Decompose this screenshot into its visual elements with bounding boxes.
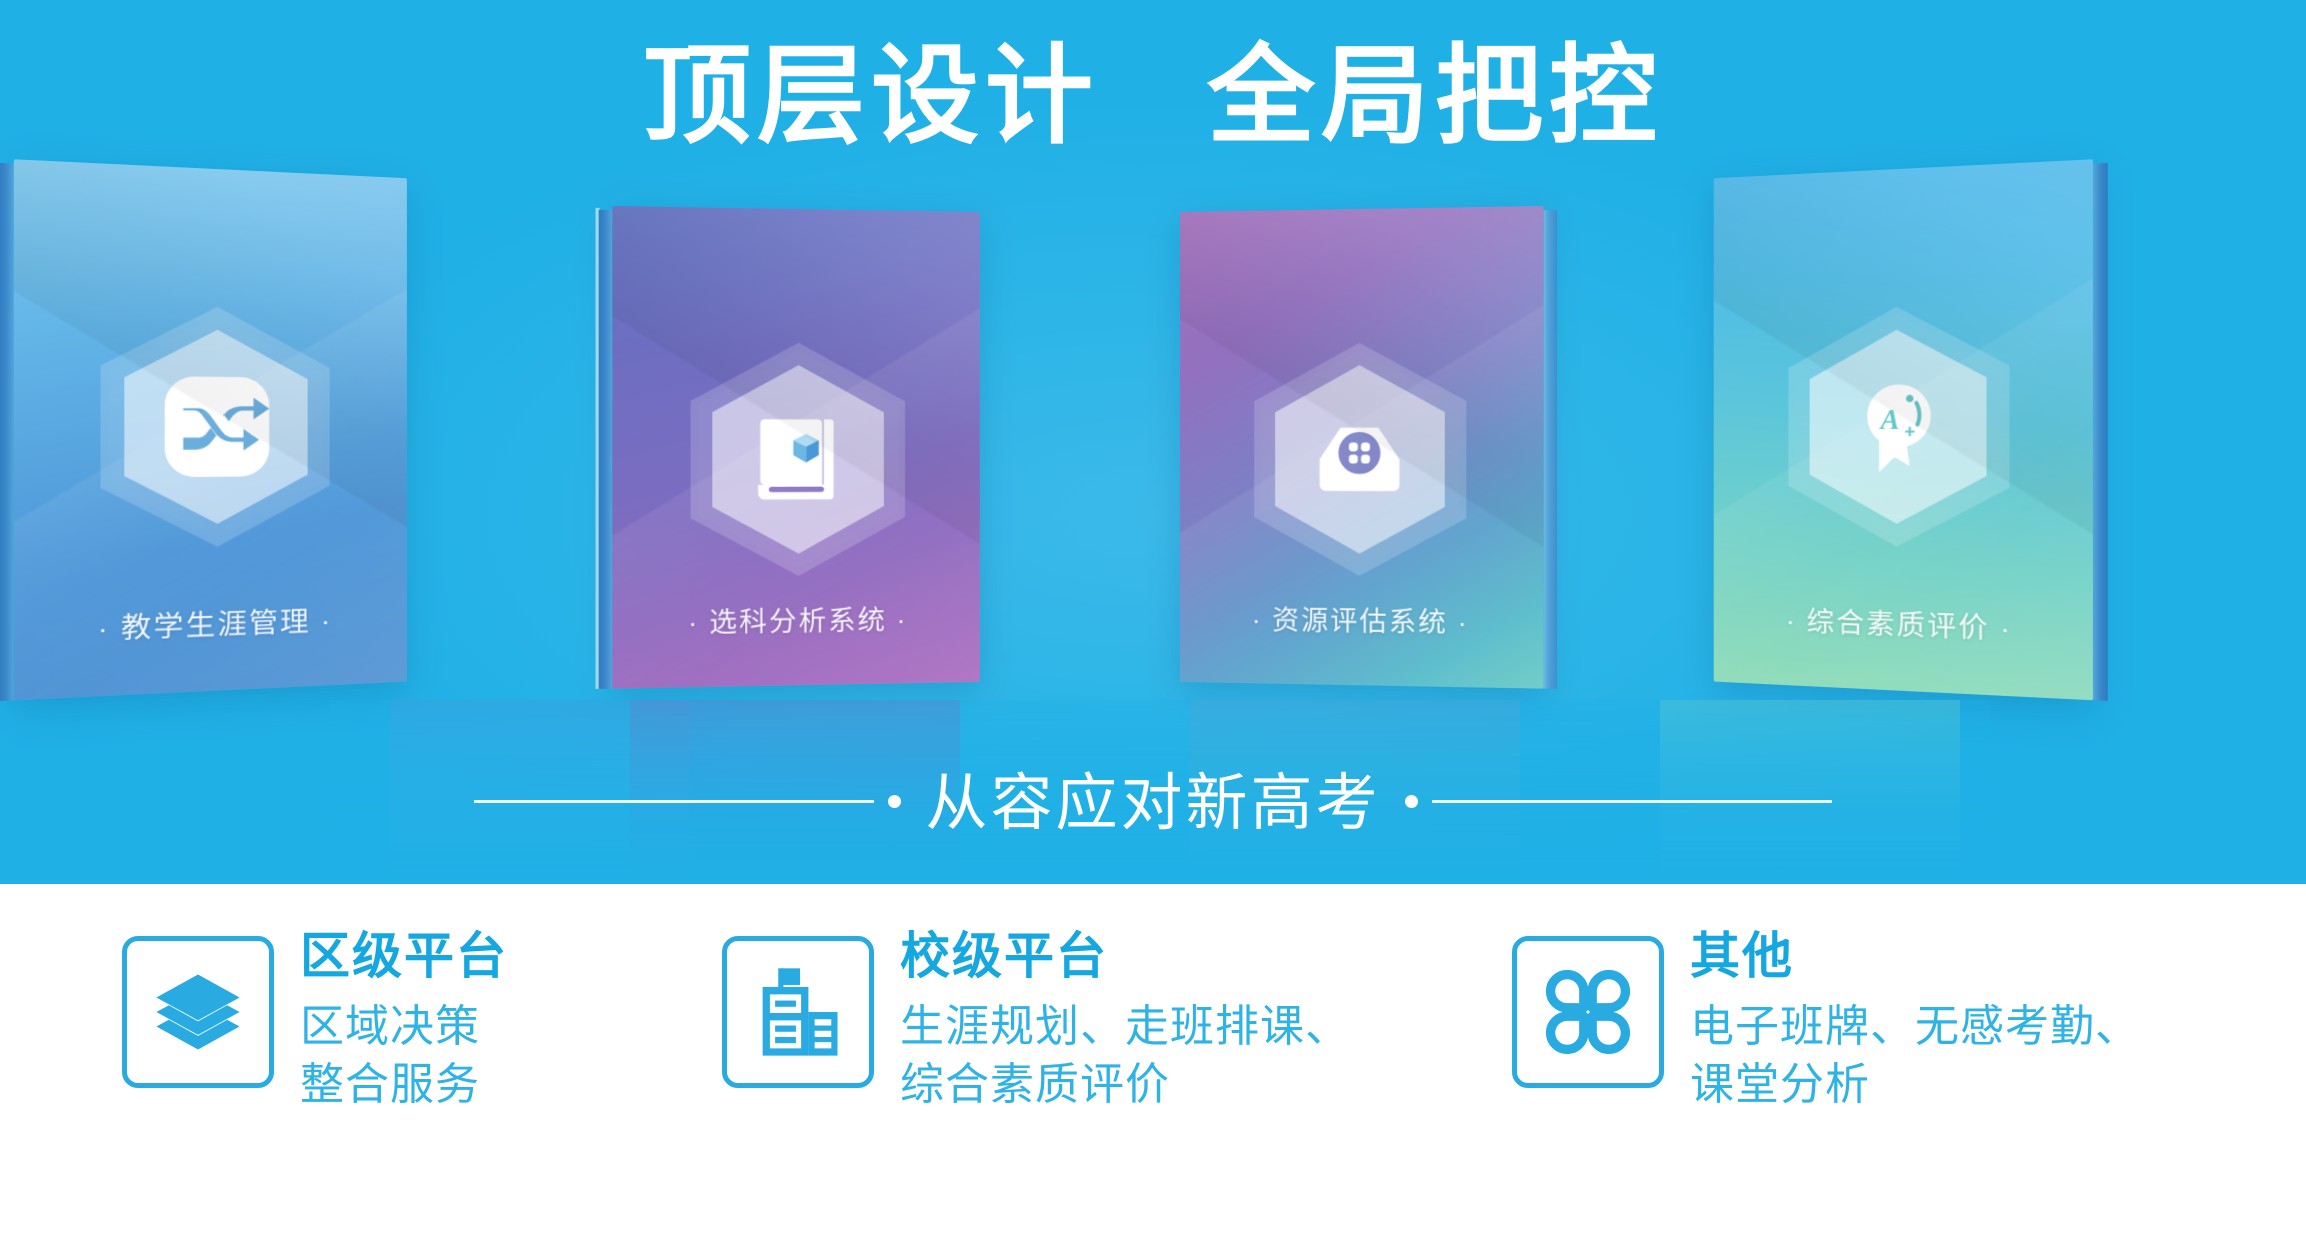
page-title: 顶层设计 全局把控: [0, 34, 2306, 158]
feature-text: 校级平台 生涯规划、走班排课、 综合素质评价: [900, 906, 1350, 1114]
panel-emblem: [100, 304, 329, 549]
layers-icon: [146, 960, 250, 1064]
panel-label: · 资源评估系统 ·: [1180, 597, 1544, 642]
panel-emblem: [691, 342, 905, 577]
panel-emblem: A +: [1788, 304, 2009, 549]
feature-icon-box: [122, 936, 274, 1088]
poster-root: 顶层设计 全局把控: [0, 0, 2306, 1239]
school-building-icon: [746, 960, 850, 1064]
feature-icon-box: [722, 936, 874, 1088]
hexagon-outer-icon: [1788, 304, 2009, 549]
panel-face: · 资源评估系统 ·: [1180, 206, 1544, 689]
a-plus-badge-icon: A +: [1842, 372, 1951, 482]
four-petal-icon: [1536, 960, 1640, 1064]
hexagon-inner-icon: [1810, 328, 1987, 525]
feature-title: 区级平台: [300, 928, 508, 986]
panel-stage: · 教学生涯管理 ·: [0, 180, 2306, 740]
panel-edge: [0, 163, 14, 701]
panel-label: · 教学生涯管理 ·: [14, 596, 407, 650]
panel-edge: [1544, 210, 1558, 689]
panel-emblem: [1254, 342, 1466, 577]
panel-face: A + · 综合素质评价 ·: [1714, 159, 2093, 700]
subtitle-line-right: [1432, 800, 1832, 803]
subtitle-line-left: [474, 800, 874, 803]
panel-face: · 教学生涯管理 ·: [14, 159, 407, 700]
hexagon-outer-icon: [691, 342, 905, 577]
feature-description: 区域决策 整合服务: [300, 998, 508, 1114]
feature-school-platform[interactable]: 校级平台 生涯规划、走班排课、 综合素质评价: [722, 906, 1350, 1114]
feature-text: 其他 电子班牌、无感考勤、 课堂分析: [1690, 906, 2140, 1114]
feature-title: 其他: [1690, 928, 2140, 986]
shuffle-icon: [160, 372, 273, 482]
panel-label: · 综合素质评价 ·: [1714, 596, 2093, 650]
hexagon-inner-icon: [124, 328, 307, 525]
hero-section: 顶层设计 全局把控: [0, 0, 2306, 884]
feature-icon-box: [1512, 936, 1664, 1088]
svg-text:+: +: [1904, 421, 1915, 442]
subtitle-dot-left: [888, 795, 901, 808]
panel-resource-evaluation[interactable]: · 资源评估系统 ·: [1180, 206, 1544, 689]
svg-text:A: A: [1878, 404, 1899, 435]
feature-other[interactable]: 其他 电子班牌、无感考勤、 课堂分析: [1512, 906, 2140, 1114]
panel-face: · 选科分析系统 ·: [612, 206, 980, 689]
hexagon-inner-icon: [712, 365, 884, 555]
panel-subject-analysis[interactable]: · 选科分析系统 ·: [612, 206, 980, 689]
feature-title: 校级平台: [900, 928, 1350, 986]
resource-basket-icon: [1307, 407, 1412, 513]
feature-text: 区级平台 区域决策 整合服务: [300, 906, 508, 1114]
subtitle-dot-right: [1405, 795, 1418, 808]
hexagon-inner-icon: [1275, 365, 1445, 555]
panel-comprehensive-evaluation[interactable]: A + · 综合素质评价 ·: [1714, 159, 2093, 700]
panel-teaching-career[interactable]: · 教学生涯管理 ·: [14, 159, 407, 700]
hexagon-outer-icon: [100, 304, 329, 549]
subtitle-row: 从容应对新高考: [0, 742, 2306, 852]
panel-edge: [599, 210, 613, 689]
hero-subtitle: 从容应对新高考: [915, 752, 1390, 842]
book-cube-icon: [745, 407, 851, 513]
panel-label: · 选科分析系统 ·: [612, 597, 980, 642]
hexagon-outer-icon: [1254, 342, 1466, 577]
features-section: 区级平台 区域决策 整合服务: [0, 884, 2306, 1239]
panel-edge: [2093, 163, 2108, 701]
feature-district-platform[interactable]: 区级平台 区域决策 整合服务: [122, 906, 508, 1114]
feature-description: 生涯规划、走班排课、 综合素质评价: [900, 998, 1350, 1114]
feature-description: 电子班牌、无感考勤、 课堂分析: [1690, 998, 2140, 1114]
